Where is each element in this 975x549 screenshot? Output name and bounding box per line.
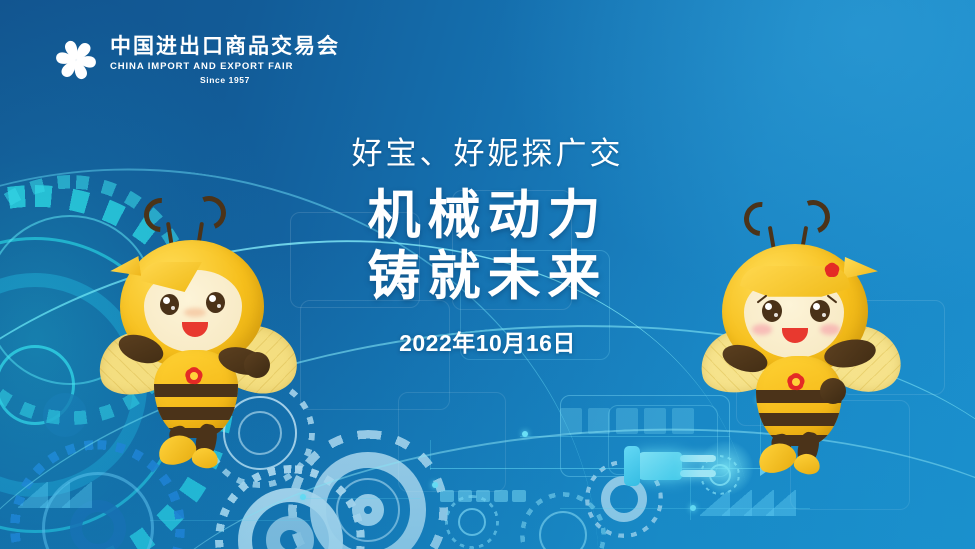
logo-chinese-name: 中国进出口商品交易会 bbox=[110, 36, 340, 57]
mascot-left-foot-back bbox=[191, 446, 220, 469]
background-gear-center-solid bbox=[288, 430, 448, 549]
poster-canvas: 中国进出口商品交易会 CHINA IMPORT AND EXPORT FAIR … bbox=[0, 0, 975, 549]
mascot-right-blush-right bbox=[820, 324, 840, 335]
mascot-left-haobao bbox=[96, 196, 296, 466]
background-gear-tiny-bottom bbox=[445, 495, 499, 549]
mascot-right-hood-tuft bbox=[843, 257, 878, 281]
mascot-left-eye-left bbox=[160, 294, 179, 315]
mascot-right-flower-emblem bbox=[782, 368, 810, 396]
background-gear-small-right bbox=[585, 460, 663, 538]
mascot-left-eye-right bbox=[206, 292, 225, 313]
canton-fair-logo[interactable]: 中国进出口商品交易会 CHINA IMPORT AND EXPORT FAIR … bbox=[52, 36, 340, 84]
background-gear-outline-right bbox=[520, 492, 606, 549]
mascot-left-hand-right bbox=[244, 352, 270, 378]
mascot-right-antenna-left bbox=[737, 195, 785, 243]
mascot-left-blush bbox=[184, 308, 206, 317]
mascot-right-haoni bbox=[700, 200, 900, 468]
main-title-line1: 机械动力 bbox=[368, 186, 608, 245]
mascot-right-blush-left bbox=[752, 324, 772, 335]
mascot-right-hair-flower bbox=[820, 258, 844, 282]
mascot-left-antenna-right bbox=[187, 191, 231, 235]
pinwheel-flower-icon bbox=[52, 36, 100, 84]
mascot-right-antenna-right bbox=[791, 195, 836, 240]
mascot-left-flower-emblem bbox=[180, 362, 208, 390]
logo-english-name: CHINA IMPORT AND EXPORT FAIR bbox=[110, 62, 340, 72]
logo-text-block: 中国进出口商品交易会 CHINA IMPORT AND EXPORT FAIR … bbox=[110, 36, 340, 84]
background-gear-center-left bbox=[215, 465, 365, 549]
logo-since-label: Since 1957 bbox=[110, 76, 340, 85]
mascot-right-eye-right bbox=[810, 300, 830, 322]
mascot-right-eye-left bbox=[762, 300, 782, 322]
mascot-left-antenna-left bbox=[137, 191, 185, 239]
mascot-right-hand-right bbox=[820, 378, 846, 404]
subtitle-text: 好宝、好妮探广交 bbox=[0, 128, 975, 173]
